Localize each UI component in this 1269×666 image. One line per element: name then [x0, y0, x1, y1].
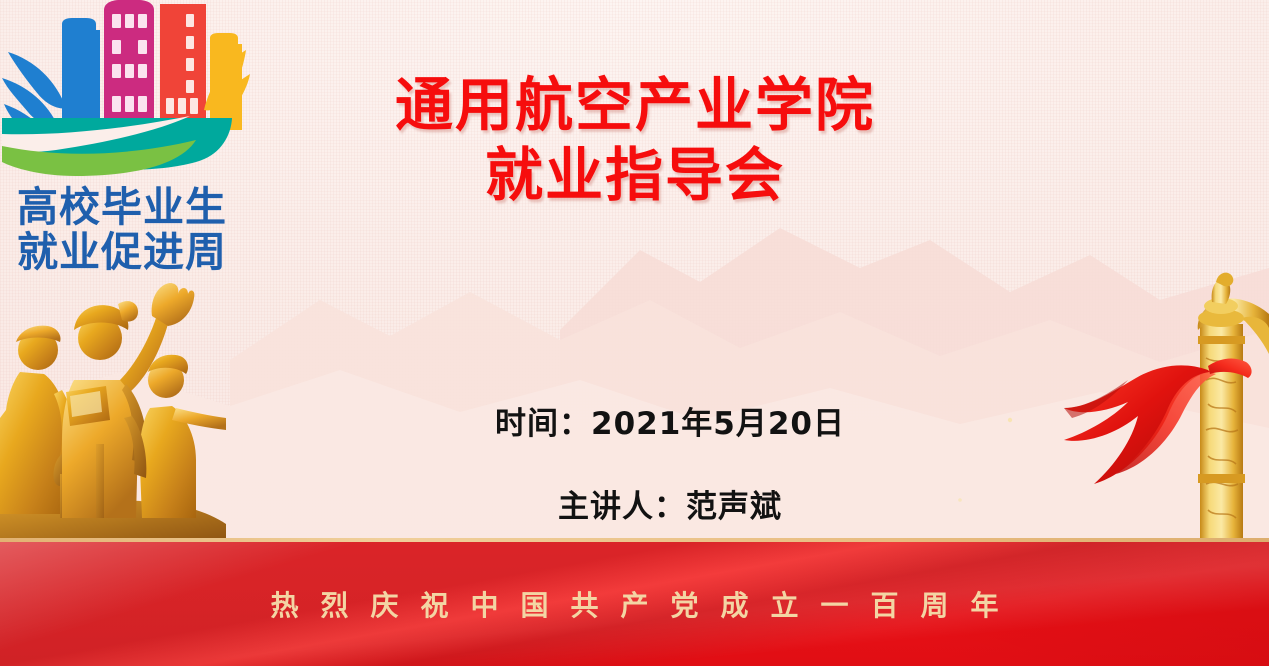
- poster-canvas: 高校毕业生 就业促进周: [0, 0, 1269, 666]
- logo-mark-icon: [0, 0, 250, 178]
- golden-statue-illustration: [0, 268, 226, 540]
- bottom-red-banner: 热烈庆祝中国共产党成立一百周年: [0, 538, 1269, 666]
- title-line-2: 就业指导会: [270, 140, 1000, 210]
- employment-week-logo: 高校毕业生 就业促进周: [0, 0, 250, 285]
- event-speaker: 主讲人：范声斌: [270, 481, 1070, 526]
- banner-slogan: 热烈庆祝中国共产党成立一百周年: [0, 584, 1269, 624]
- banner-gold-edge: [0, 538, 1269, 542]
- logo-text-line1: 高校毕业生: [0, 185, 244, 230]
- title-line-1: 通用航空产业学院: [270, 70, 1000, 140]
- logo-text: 高校毕业生 就业促进周: [0, 185, 244, 275]
- event-info: 时间：2021年5月20日 主讲人：范声斌: [270, 398, 1070, 526]
- event-date: 时间：2021年5月20日: [270, 398, 1070, 443]
- poster-title: 通用航空产业学院 就业指导会: [270, 70, 1000, 210]
